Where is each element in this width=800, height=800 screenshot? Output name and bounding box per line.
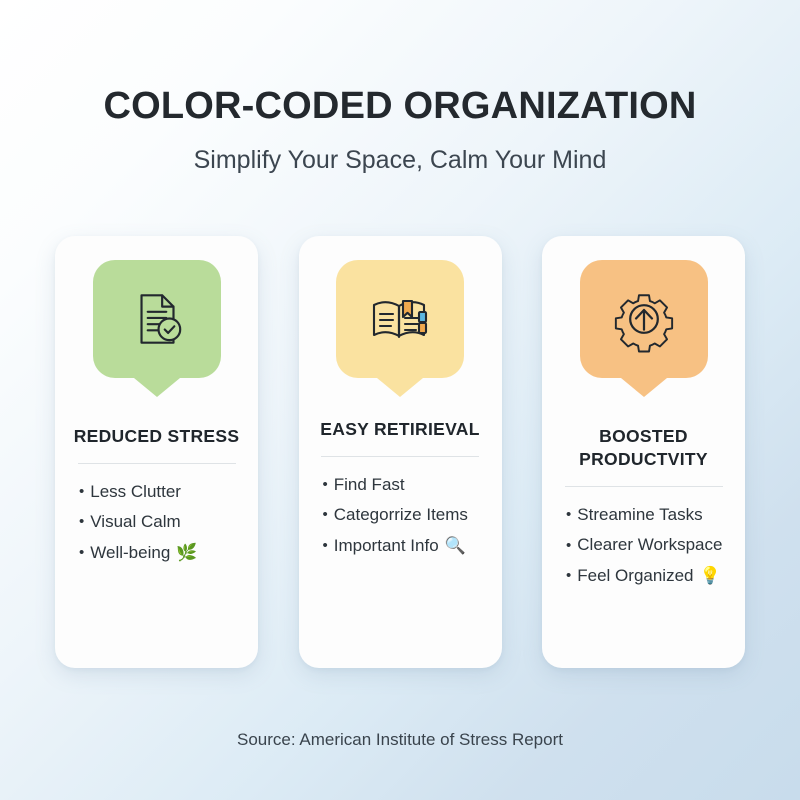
card-bullets: • Find Fast • Categorrize Items • Import…: [299, 474, 502, 556]
list-item: • Streamine Tasks: [566, 504, 745, 525]
badge-tail: [377, 378, 423, 397]
bullet-marker: •: [79, 545, 84, 560]
badge-tail: [134, 378, 180, 397]
source-footer: Source: American Institute of Stress Rep…: [0, 730, 800, 750]
page-subtitle: Simplify Your Space, Calm Your Mind: [0, 145, 800, 175]
card-bullets: • Less Clutter • Visual Calm • Well-bein…: [55, 481, 258, 563]
list-item: • Categorrize Items: [323, 504, 502, 525]
bullet-marker: •: [323, 538, 328, 553]
list-item: • Less Clutter: [79, 481, 258, 502]
list-item: • Visual Calm: [79, 511, 258, 532]
benefit-card-boosted-productivity[interactable]: BOOSTED PRODUCTVITY • Streamine Tasks • …: [542, 236, 745, 668]
header: COLOR-CODED ORGANIZATION Simplify Your S…: [0, 86, 800, 175]
infographic-poster: COLOR-CODED ORGANIZATION Simplify Your S…: [0, 0, 800, 800]
benefit-card-easy-retrieval[interactable]: EASY RETIRIEVAL • Find Fast • Categorriz…: [299, 236, 502, 668]
bullet-text: Feel Organized: [577, 565, 693, 586]
page-title: COLOR-CODED ORGANIZATION: [0, 86, 800, 128]
bullet-text: Categorrize Items: [334, 504, 468, 525]
badge-reduced-stress: [93, 260, 221, 378]
bullet-marker: •: [79, 514, 84, 529]
bullet-text: Less Clutter: [90, 481, 181, 502]
bullet-marker: •: [323, 507, 328, 522]
badge-easy-retrieval: [336, 260, 464, 378]
benefit-card-list: REDUCED STRESS • Less Clutter • Visual C…: [55, 236, 745, 668]
document-check-icon: [124, 286, 190, 352]
card-title: EASY RETIRIEVAL: [312, 418, 487, 441]
badge-shape: [580, 260, 708, 378]
bullet-text: Streamine Tasks: [577, 504, 702, 525]
list-item: • Important Info 🔍: [323, 535, 502, 556]
badge-tail: [621, 378, 667, 397]
leaf-emoji: 🌿: [176, 544, 197, 561]
lightbulb-emoji: 💡: [700, 567, 721, 584]
badge-shape: [336, 260, 464, 378]
bullet-text: Visual Calm: [90, 511, 180, 532]
card-bullets: • Streamine Tasks • Clearer Workspace • …: [542, 504, 745, 586]
card-title: REDUCED STRESS: [66, 425, 248, 448]
card-divider: [565, 486, 723, 487]
badge-shape: [93, 260, 221, 378]
magnifier-emoji: 🔍: [445, 537, 466, 554]
bullet-marker: •: [566, 507, 571, 522]
list-item: • Feel Organized 💡: [566, 565, 745, 586]
card-divider: [321, 456, 479, 457]
open-book-bookmark-icon: [365, 286, 435, 352]
bullet-marker: •: [566, 568, 571, 583]
list-item: • Well-being 🌿: [79, 542, 258, 563]
list-item: • Find Fast: [323, 474, 502, 495]
bullet-text: Find Fast: [334, 474, 405, 495]
badge-boosted-productivity: [580, 260, 708, 378]
card-divider: [78, 463, 236, 464]
card-title: BOOSTED PRODUCTVITY: [542, 425, 745, 471]
bullet-text: Clearer Workspace: [577, 534, 722, 555]
bullet-marker: •: [566, 538, 571, 553]
bullet-marker: •: [79, 484, 84, 499]
gear-arrow-up-icon: [610, 285, 678, 353]
list-item: • Clearer Workspace: [566, 534, 745, 555]
benefit-card-reduced-stress[interactable]: REDUCED STRESS • Less Clutter • Visual C…: [55, 236, 258, 668]
bullet-text: Well-being: [90, 542, 170, 563]
bullet-text: Important Info: [334, 535, 439, 556]
bullet-marker: •: [323, 477, 328, 492]
